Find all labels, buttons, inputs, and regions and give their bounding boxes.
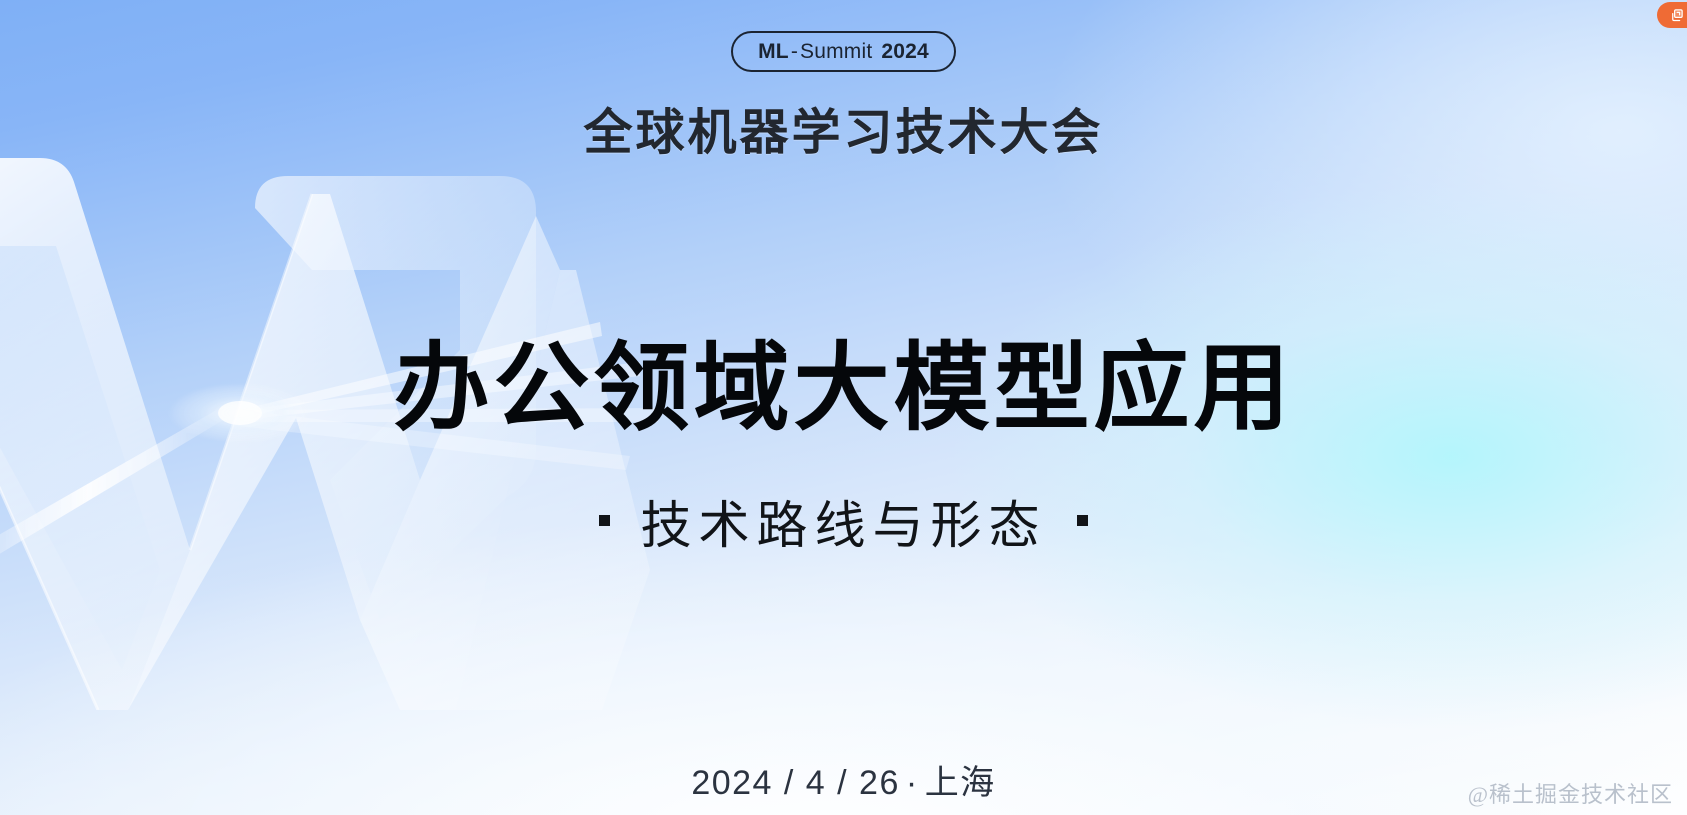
convert-icon [1669, 8, 1684, 23]
presentation-slide: ML - Summit 2024 全球机器学习技术大会 办公领域大模型应用 技术… [0, 0, 1687, 815]
ml-summit-badge-wrapper: ML - Summit 2024 [0, 31, 1687, 72]
event-date: 2024 / 4 / 26 [691, 764, 900, 802]
badge-dash: - [791, 40, 798, 64]
date-separator: · [906, 764, 919, 802]
badge-year: 2024 [881, 40, 929, 64]
convert-badge[interactable]: 转 [1657, 2, 1687, 28]
page-subtitle: 技术路线与形态 [640, 484, 1046, 558]
ml-summit-badge: ML - Summit 2024 [731, 31, 956, 72]
page-title: 办公领域大模型应用 [0, 338, 1687, 440]
square-bullet-left-icon [599, 515, 610, 526]
subtitle-row: 技术路线与形态 [0, 484, 1687, 558]
conference-name: 全球机器学习技术大会 [0, 93, 1687, 164]
event-date-location: 2024 / 4 / 26·上海 [0, 755, 1687, 804]
title-block: 办公领域大模型应用 技术路线与形态 [0, 338, 1687, 558]
badge-summit-label: Summit [800, 40, 872, 64]
watermark: @稀土掘金技术社区 [1468, 777, 1673, 809]
event-city: 上海 [925, 764, 996, 802]
square-bullet-right-icon [1077, 515, 1088, 526]
badge-ml-label: ML [758, 40, 789, 64]
